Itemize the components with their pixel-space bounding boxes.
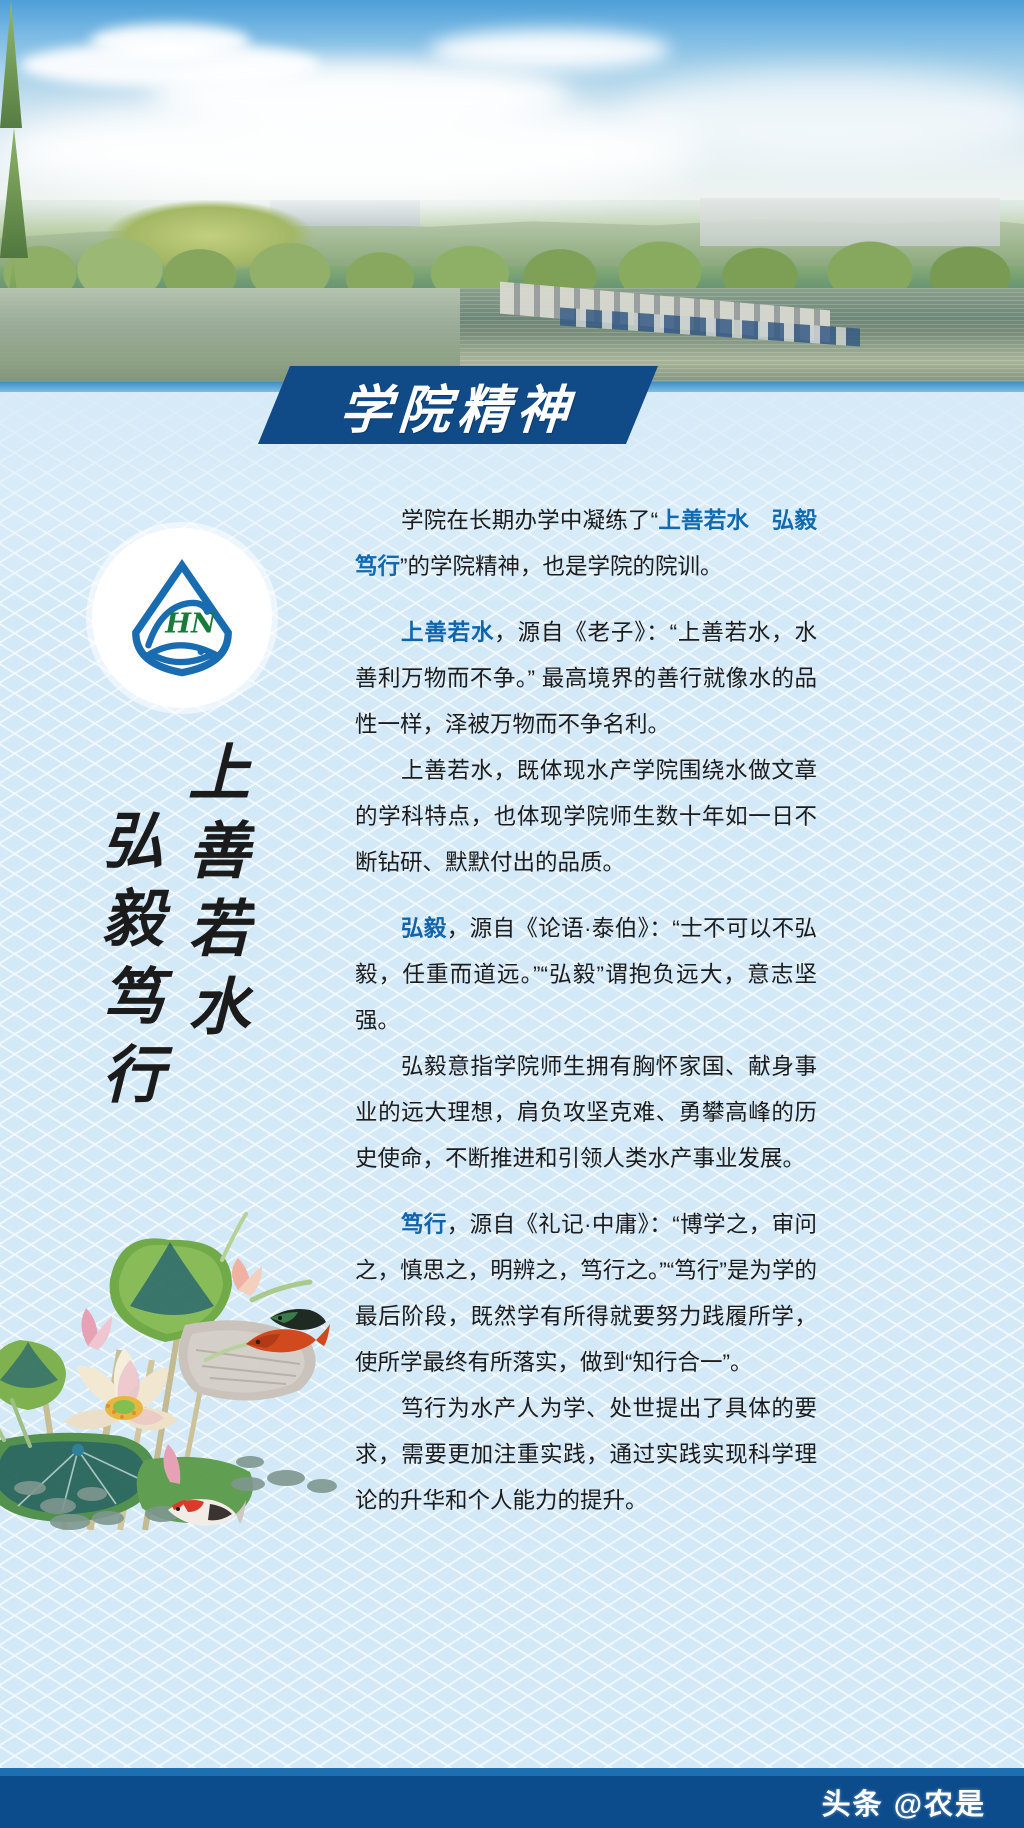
poster-root: 学院精神 HN 上善若水 弘毅笃行 <box>0 0 1024 1828</box>
intro-post: 的学院精神，也是学院的院训。 <box>408 554 723 579</box>
paragraph-gap <box>355 590 817 610</box>
watermark-text: 头条 @农是 <box>822 1781 986 1823</box>
footer-accent-strip <box>0 1768 1024 1776</box>
keyword-shangshanruoshui: 上善若水 <box>401 620 494 645</box>
cloud <box>430 30 670 70</box>
section-title-banner: 学院精神 <box>258 366 658 444</box>
svg-text:HN: HN <box>164 608 217 640</box>
paragraph-hongyi-1: 弘毅，源自《论语·泰伯》：“士不可以不弘毅，任重而道远。”“弘毅”谓抱负远大，意… <box>355 906 817 1044</box>
koi-fish-single-icon <box>160 1480 246 1544</box>
calligraphy-line-1: 上善若水 <box>182 740 244 1052</box>
article-content: 学院在长期办学中凝练了“上善若水 弘毅笃行”的学院精神，也是学院的院训。 上善若… <box>355 498 817 1524</box>
cloud <box>90 24 250 58</box>
cloud <box>0 95 700 205</box>
paragraph-gap <box>355 886 817 906</box>
intro-pre: 学院在长期办学中凝练了 <box>401 508 651 533</box>
header-photo <box>0 0 1024 392</box>
tree-line <box>0 214 1024 288</box>
footer-bar: 头条 @农是 <box>0 1776 1024 1828</box>
page-title: 学院精神 <box>337 368 578 443</box>
logo-waterdrop-fish-icon: HN <box>119 555 245 681</box>
paragraph-duxing-1: 笃行，源自《礼记·中庸》：“博学之，审问之，慎思之，明辨之，笃行之。”“笃行”是… <box>355 1202 817 1386</box>
quote-close: ” <box>400 554 408 579</box>
paragraph-hongyi-2: 弘毅意指学院师生拥有胸怀家国、献身事业的远大理想，肩负攻坚克难、勇攀高峰的历史使… <box>355 1044 817 1182</box>
paragraph-intro: 学院在长期办学中凝练了“上善若水 弘毅笃行”的学院精神，也是学院的院训。 <box>355 498 817 590</box>
paragraph-shangshan-1: 上善若水，源自《老子》：“上善若水，水善利万物而不争。” 最高境界的善行就像水的… <box>355 610 817 748</box>
koi-fish-pair-icon <box>236 1300 332 1370</box>
keyword-duxing: 笃行 <box>401 1212 447 1237</box>
keyword-hongyi: 弘毅 <box>401 916 447 941</box>
quote-open: “ <box>651 508 659 533</box>
paragraph-gap <box>355 1182 817 1202</box>
college-logo: HN <box>92 528 272 708</box>
paragraph-duxing-2: 笃行为水产人为学、处世提出了具体的要求，需要更加注重实践，通过实践实现科学理论的… <box>355 1386 817 1524</box>
cloud <box>620 70 1024 160</box>
paragraph-shangshan-2: 上善若水，既体现水产学院围绕水做文章的学科特点，也体现学院师生数十年如一日不断钻… <box>355 748 817 886</box>
calligraphy-line-2: 弘毅笃行 <box>96 808 158 1120</box>
